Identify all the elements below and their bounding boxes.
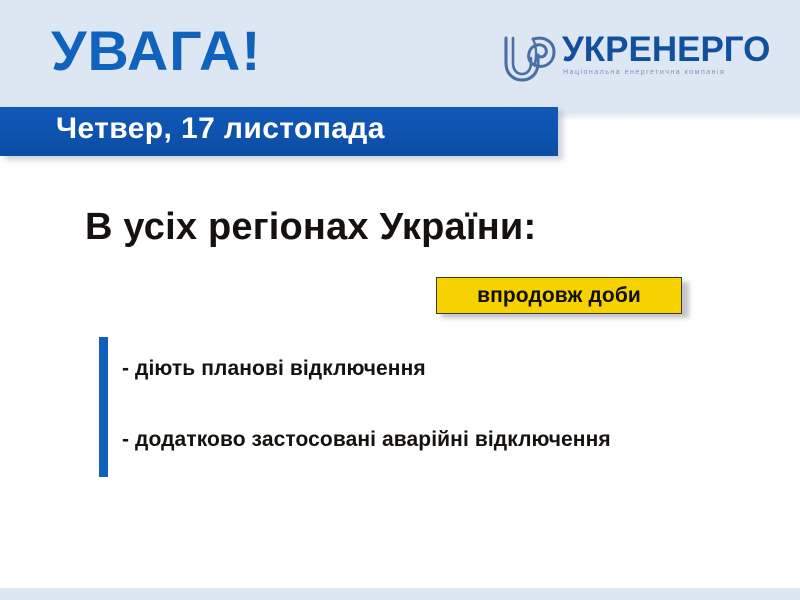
- ukrenergo-logo: УКРЕНЕРГО Національна енергетична компан…: [500, 31, 770, 87]
- ukrenergo-leaf-mark-icon: [500, 33, 558, 83]
- outage-list: - діють планові відключення - додатково …: [122, 337, 782, 450]
- date-banner-label: Четвер, 17 листопада: [56, 114, 385, 144]
- page-title: УВАГА!: [51, 23, 261, 79]
- list-item: - діють планові відключення: [122, 358, 782, 379]
- footer-strip: [0, 588, 800, 600]
- logo-wordmark: УКРЕНЕРГО: [562, 31, 770, 69]
- announcement-slide: УВАГА! УКРЕНЕРГО Національна енергетична…: [0, 0, 800, 600]
- list-item: - додатково застосовані аварійні відключ…: [122, 429, 782, 450]
- logo-tagline: Національна енергетична компанія: [563, 68, 725, 76]
- main-heading: В усіх регіонах України:: [85, 208, 536, 246]
- duration-badge: впродовж доби: [436, 277, 682, 314]
- list-accent-rule: [99, 337, 108, 477]
- duration-badge-label: впродовж доби: [477, 285, 641, 306]
